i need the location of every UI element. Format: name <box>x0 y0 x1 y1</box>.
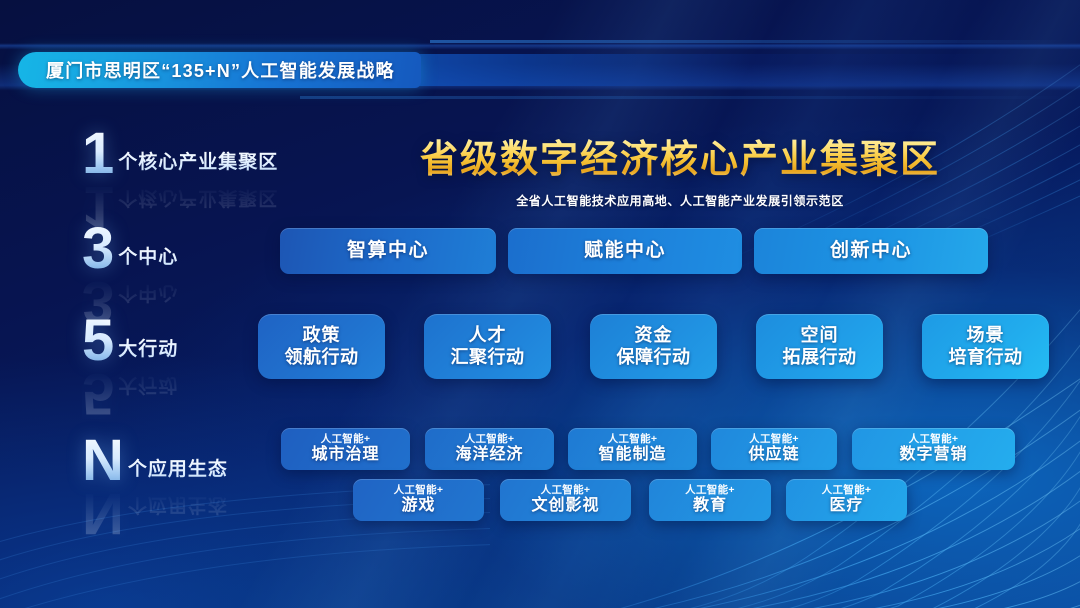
banner-pill: 厦门市思明区“135+N”人工智能发展战略 <box>18 52 421 88</box>
row-label-1: 1 个核心产业集聚区 1 个核心产业集聚区 <box>82 128 278 180</box>
row-number-n: N <box>82 435 128 487</box>
row-caption-5: 大行动 <box>118 334 178 367</box>
center-card-3-label: 创新中心 <box>830 240 912 262</box>
center-card-2[interactable]: 赋能中心 <box>508 228 742 274</box>
app-card-games-label: 游戏 <box>401 497 435 516</box>
action-card-4[interactable]: 空间 拓展行动 <box>756 314 883 379</box>
infographic-canvas: 厦门市思明区“135+N”人工智能发展战略 1 个核心产业集聚区 1 个核心产业… <box>0 0 1080 608</box>
center-card-1-label: 智算中心 <box>347 240 429 262</box>
row-label-rail: 1 个核心产业集聚区 1 个核心产业集聚区 3 个中心 3 个中心 5 大行动 … <box>0 110 300 580</box>
app-card-smart-manufacturing-prefix: 人工智能+ <box>608 433 658 445</box>
action-card-1-line1: 政策 <box>303 325 341 346</box>
row-label-5: 5 大行动 5 大行动 <box>82 315 178 367</box>
app-card-digital-marketing-label: 数字营销 <box>899 446 967 465</box>
app-card-education[interactable]: 人工智能+ 教育 <box>649 479 771 521</box>
app-card-cultural-media-prefix: 人工智能+ <box>541 484 591 496</box>
core-cluster-headline: 省级数字经济核心产业集聚区 全省人工智能技术应用高地、人工智能产业发展引领示范区 <box>300 128 1060 209</box>
action-card-3[interactable]: 资金 保障行动 <box>590 314 717 379</box>
app-card-smart-manufacturing-label: 智能制造 <box>598 446 666 465</box>
app-card-healthcare-prefix: 人工智能+ <box>822 484 872 496</box>
app-card-education-label: 教育 <box>693 497 727 516</box>
app-card-supply-chain-label: 供应链 <box>748 446 799 465</box>
row-number-3: 3 <box>82 223 118 275</box>
app-card-supply-chain-prefix: 人工智能+ <box>749 433 799 445</box>
app-card-education-prefix: 人工智能+ <box>685 484 735 496</box>
headline-title: 省级数字经济核心产业集聚区 <box>300 128 1060 183</box>
center-card-2-label: 赋能中心 <box>584 240 666 262</box>
app-card-cultural-media-label: 文创影视 <box>531 497 599 516</box>
action-card-1-line2: 领航行动 <box>285 347 359 368</box>
action-card-2[interactable]: 人才 汇聚行动 <box>424 314 551 379</box>
action-card-3-line2: 保障行动 <box>617 347 691 368</box>
app-card-city-governance-prefix: 人工智能+ <box>321 433 371 445</box>
row-caption-5-reflection: 大行动 <box>118 367 178 400</box>
headline-subtitle: 全省人工智能技术应用高地、人工智能产业发展引领示范区 <box>300 192 1060 209</box>
row-number-n-reflection: N <box>82 487 128 539</box>
center-card-1[interactable]: 智算中心 <box>280 228 496 274</box>
action-card-4-line1: 空间 <box>801 325 839 346</box>
app-card-smart-manufacturing[interactable]: 人工智能+ 智能制造 <box>568 428 697 470</box>
action-card-1[interactable]: 政策 领航行动 <box>258 314 385 379</box>
action-card-2-line1: 人才 <box>469 325 507 346</box>
row-number-5-reflection: 5 <box>82 367 118 419</box>
row-caption-3: 个中心 <box>118 242 178 275</box>
app-card-games[interactable]: 人工智能+ 游戏 <box>353 479 484 521</box>
action-card-2-line2: 汇聚行动 <box>451 347 525 368</box>
app-card-healthcare[interactable]: 人工智能+ 医疗 <box>786 479 907 521</box>
banner-title-text: 厦门市思明区“135+N”人工智能发展战略 <box>46 57 395 83</box>
row-caption-1: 个核心产业集聚区 <box>118 147 278 180</box>
row-caption-n-reflection: 个应用生态 <box>128 487 228 520</box>
app-card-city-governance-label: 城市治理 <box>311 446 379 465</box>
row-label-3: 3 个中心 3 个中心 <box>82 223 178 275</box>
row-caption-n: 个应用生态 <box>128 454 228 487</box>
action-card-5-line2: 培育行动 <box>949 347 1023 368</box>
app-card-digital-marketing-prefix: 人工智能+ <box>909 433 959 445</box>
action-card-3-line1: 资金 <box>635 325 673 346</box>
action-card-5[interactable]: 场景 培育行动 <box>922 314 1049 379</box>
action-card-5-line1: 场景 <box>967 325 1005 346</box>
app-card-city-governance[interactable]: 人工智能+ 城市治理 <box>281 428 410 470</box>
app-card-marine-economy-label: 海洋经济 <box>455 446 523 465</box>
row-caption-3-reflection: 个中心 <box>118 275 178 308</box>
app-card-cultural-media[interactable]: 人工智能+ 文创影视 <box>500 479 631 521</box>
action-card-4-line2: 拓展行动 <box>783 347 857 368</box>
app-card-games-prefix: 人工智能+ <box>394 484 444 496</box>
row-number-1: 1 <box>82 128 118 180</box>
row-label-n: N 个应用生态 N 个应用生态 <box>82 435 228 487</box>
strategy-title-banner: 厦门市思明区“135+N”人工智能发展战略 <box>0 52 1080 88</box>
app-card-marine-economy-prefix: 人工智能+ <box>465 433 515 445</box>
app-card-supply-chain[interactable]: 人工智能+ 供应链 <box>711 428 837 470</box>
app-card-marine-economy[interactable]: 人工智能+ 海洋经济 <box>425 428 554 470</box>
app-card-healthcare-label: 医疗 <box>829 497 863 516</box>
row-number-5: 5 <box>82 315 118 367</box>
row-caption-1-reflection: 个核心产业集聚区 <box>118 180 278 213</box>
row-label-5-reflection: 5 大行动 <box>82 367 178 419</box>
app-card-digital-marketing[interactable]: 人工智能+ 数字营销 <box>852 428 1015 470</box>
center-card-3[interactable]: 创新中心 <box>754 228 988 274</box>
row-label-n-reflection: N 个应用生态 <box>82 487 228 539</box>
